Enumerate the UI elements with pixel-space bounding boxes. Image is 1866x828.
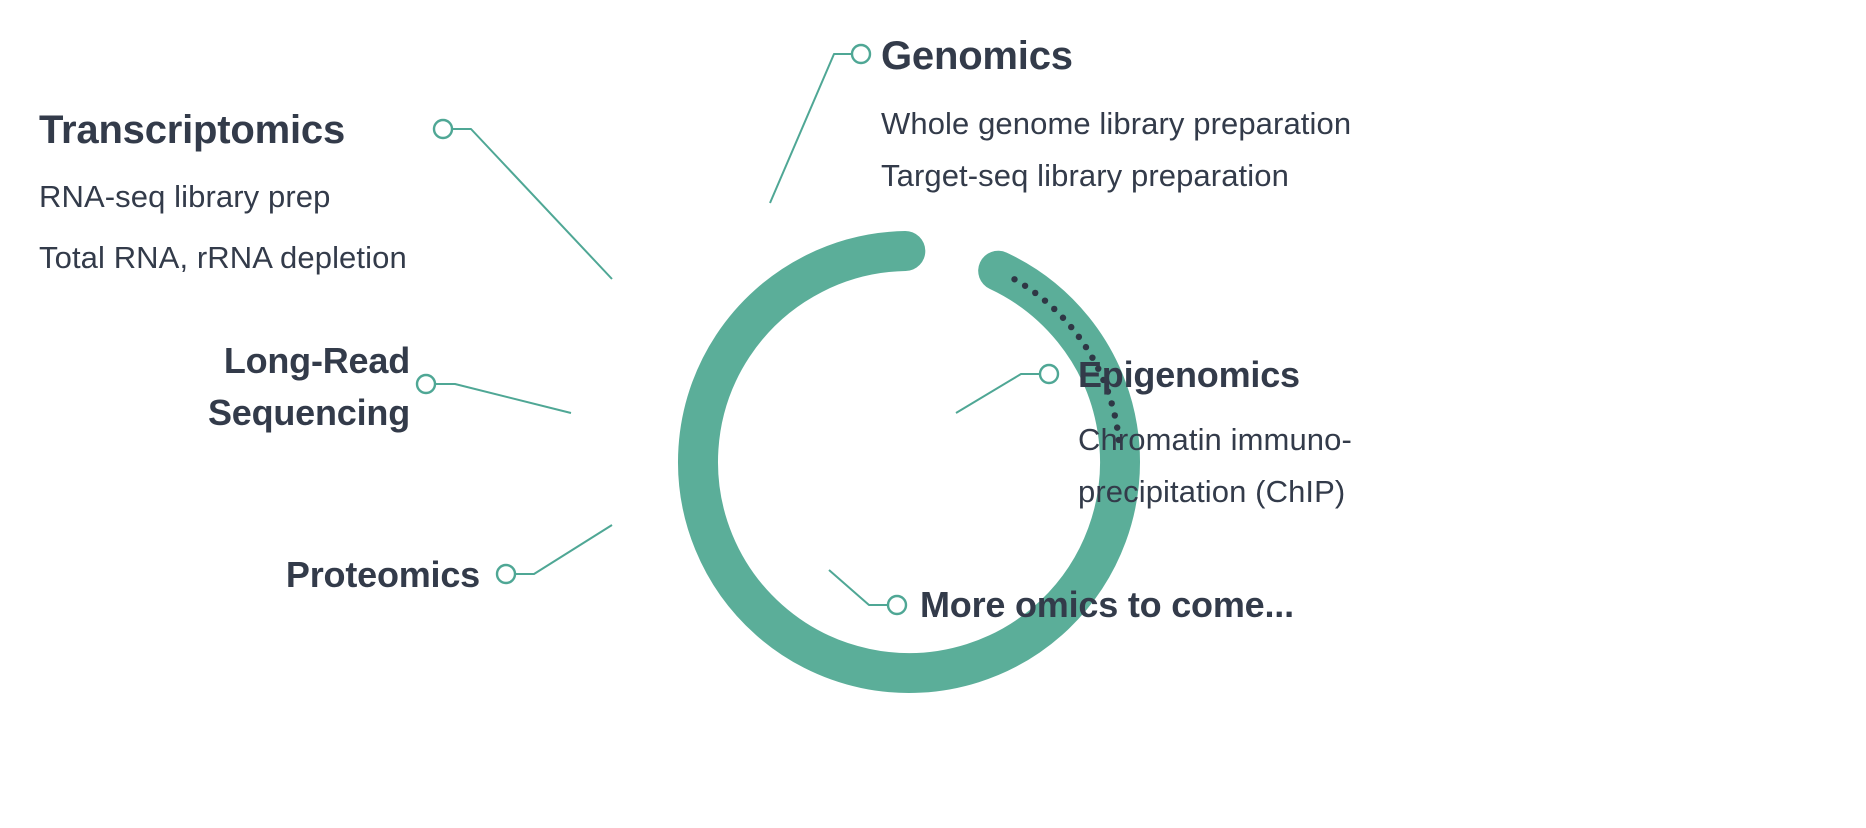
label-proteomics-title: Proteomics	[120, 552, 480, 598]
label-transcriptomics-desc-line-1: RNA-seq library prep	[39, 166, 407, 227]
ring-gap-dot	[1042, 297, 1048, 303]
ring-gap-dot	[1032, 290, 1038, 296]
label-more-omics-title: More omics to come...	[920, 582, 1294, 628]
connector-node-marker-longread[interactable]	[417, 375, 435, 393]
label-transcriptomics-desc: RNA-seq library prep Total RNA, rRNA dep…	[39, 166, 407, 288]
ring-gap-dot	[1068, 324, 1074, 330]
connector-line-proteomics	[506, 525, 612, 574]
ring-gap-dot	[1060, 315, 1066, 321]
label-genomics-title: Genomics	[881, 30, 1351, 82]
connector-line-more	[829, 570, 897, 605]
label-long-read-sequencing-title: Long-Read Sequencing	[110, 335, 410, 439]
label-epigenomics-title: Epigenomics	[1078, 350, 1352, 400]
ring-gap-dot	[1051, 306, 1057, 312]
label-epigenomics-desc-line-1: Chromatin immuno-	[1078, 414, 1352, 466]
diagram-canvas: Genomics Whole genome library preparatio…	[0, 0, 1866, 828]
label-more-omics[interactable]: More omics to come...	[920, 582, 1294, 628]
label-epigenomics-desc-line-2: precipitation (ChIP)	[1078, 466, 1352, 518]
connector-node-marker-epigenomics[interactable]	[1040, 365, 1058, 383]
label-genomics-desc-line-2: Target-seq library preparation	[881, 150, 1351, 202]
connector-node-marker-more[interactable]	[888, 596, 906, 614]
connector-line-epigenomics	[956, 374, 1049, 413]
connector-line-transcriptomics	[443, 129, 612, 279]
connector-line-longread	[426, 384, 571, 413]
connector-node-marker-transcriptomics[interactable]	[434, 120, 452, 138]
ring-gap-dot	[1022, 283, 1028, 289]
ring-gap-dot	[1011, 276, 1017, 282]
label-genomics-desc: Whole genome library preparation Target-…	[881, 98, 1351, 202]
label-genomics-desc-line-1: Whole genome library preparation	[881, 98, 1351, 150]
label-epigenomics[interactable]: Epigenomics Chromatin immuno- precipitat…	[1078, 350, 1352, 518]
label-transcriptomics[interactable]: Transcriptomics RNA-seq library prep Tot…	[39, 104, 407, 288]
label-long-read-sequencing-title-line-1: Long-Read	[110, 335, 410, 387]
connector-line-genomics	[770, 54, 861, 203]
ring-gap-dot	[1076, 334, 1082, 340]
label-long-read-sequencing[interactable]: Long-Read Sequencing	[110, 335, 410, 439]
connector-node-marker-genomics[interactable]	[852, 45, 870, 63]
label-genomics[interactable]: Genomics Whole genome library preparatio…	[881, 30, 1351, 202]
label-transcriptomics-title: Transcriptomics	[39, 104, 407, 156]
connector-node-marker-proteomics[interactable]	[497, 565, 515, 583]
label-proteomics[interactable]: Proteomics	[120, 552, 480, 598]
label-long-read-sequencing-title-line-2: Sequencing	[110, 387, 410, 439]
label-transcriptomics-desc-line-2: Total RNA, rRNA depletion	[39, 227, 407, 288]
label-epigenomics-desc: Chromatin immuno- precipitation (ChIP)	[1078, 414, 1352, 518]
